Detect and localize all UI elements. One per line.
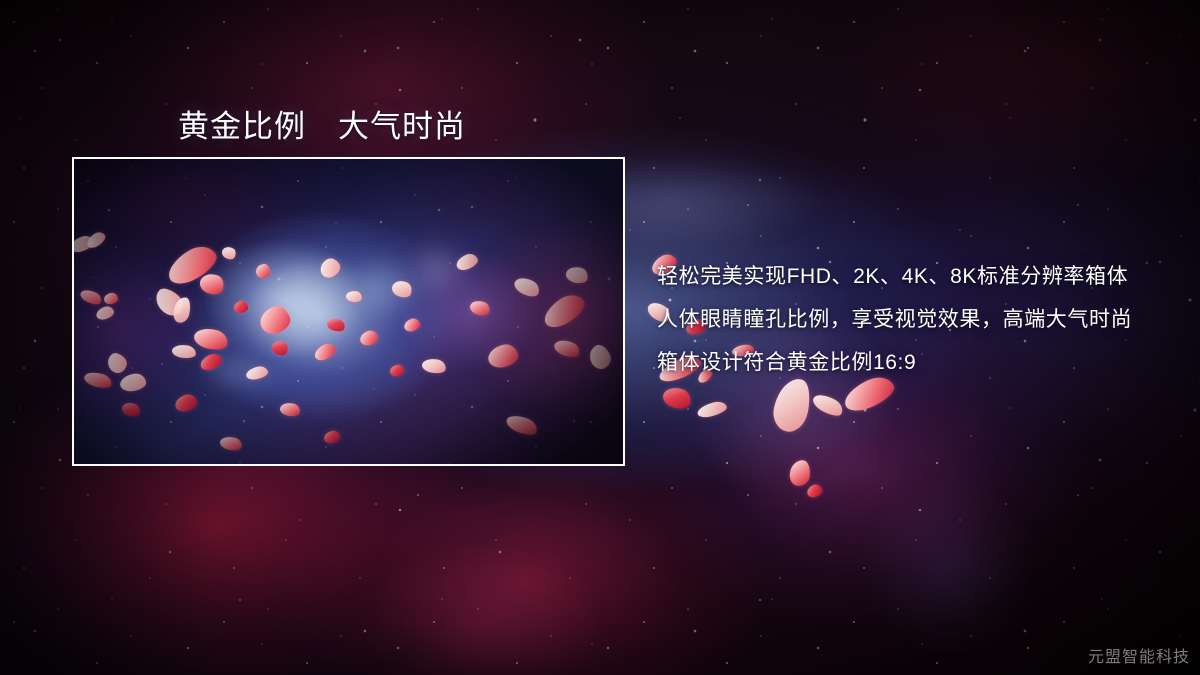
page-title: 黄金比例 大气时尚: [178, 101, 466, 146]
watermark: 元盟智能科技: [1088, 643, 1190, 667]
body-text-block: 轻松完美实现FHD、2K、4K、8K标准分辨率箱体 人体眼睛瞳孔比例，享受视觉效…: [657, 255, 1157, 384]
inner-vignette: [74, 159, 623, 464]
body-line-2: 人体眼睛瞳孔比例，享受视觉效果，高端大气时尚: [657, 298, 1157, 341]
body-line-3: 箱体设计符合黄金比例16:9: [657, 341, 1157, 384]
framed-photo: [72, 157, 625, 466]
body-line-1: 轻松完美实现FHD、2K、4K、8K标准分辨率箱体: [657, 255, 1157, 298]
slide-canvas: 黄金比例 大气时尚 轻松完美实现FHD、2K、4K、8K标准分辨率箱体 人体眼睛…: [0, 0, 1200, 675]
